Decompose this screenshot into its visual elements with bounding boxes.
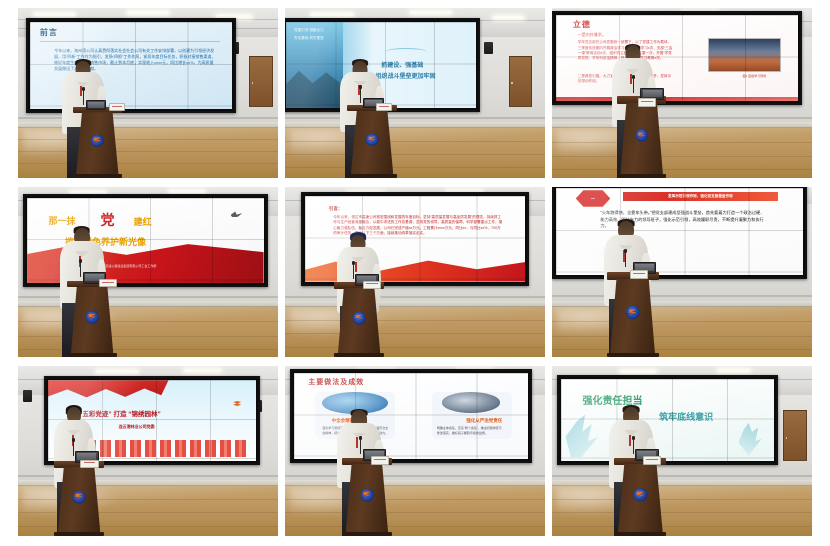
microphone [83,90,84,105]
photo-cell-7[interactable]: 以 “五彩党迹” 打造 “锦绣园林” 连云港林业公司党委 [18,366,278,536]
photo-collage-grid: 前言 今年以来，海州湾公司认真贯彻落实社会社会公司有关工作安排部署，以创建为引领… [0,0,830,546]
photo-cell-1[interactable]: 前言 今年以来，海州湾公司认真贯彻落实社会社会公司有关工作安排部署，以创建为引领… [18,8,278,178]
laptop [86,100,107,110]
speaker-nameplate [99,279,117,288]
company-roundel-logo [366,133,379,146]
microphone [80,262,81,277]
slide-surface: 主要做法及成效 中全会精神 强化学习贯彻落实党的二十大精神和二十届历次全会精神，… [294,373,528,459]
microphone [360,439,361,454]
section-badge-label: 一 [591,196,595,202]
room-door [783,410,806,461]
speaker-nameplate [643,456,661,465]
room-scene: 引言： 今年以来，领达市高速公司紧密围绕和发展的年度目标，坚持“高质量发展与高品… [285,187,545,357]
slide-subtitle: 连云港林业公司党委 [119,424,155,429]
speaker-nameplate [638,98,656,107]
led-wall-screen: 前言 今年以来，海州湾公司认真贯彻落实社会社会公司有关工作安排部署，以创建为引领… [26,18,237,113]
company-roundel-logo [91,134,104,147]
photo-cell-6[interactable]: 一 发挥示范引领作用，强化党支部堡垒作用 “火车跑得快，全靠车头带。”把党支部建… [552,187,812,357]
slide-banner-label: 发挥示范引领作用，强化党支部堡垒作用 [668,194,733,199]
floor [285,301,545,357]
slide-headline-part-1: 那一抹 [48,215,75,227]
lectern [54,461,103,536]
slide-headline-2: 组织战斗堡垒更加牢固 [376,73,436,81]
floor [552,301,812,357]
slide-surface: 立德 一是内外兼学。 学年党支部在公司党委统一部署下，以了党建工作为载体，三季度… [556,15,798,101]
speaker-nameplate [109,103,125,111]
floor [18,301,278,357]
slide-photo-caption: 图1 班组学习现场 [743,74,767,78]
ink-leaf-decor-right [732,423,766,456]
card-2-image [442,392,500,413]
room-scene: 那一抹 党 建红 擦亮绿色养护新光像 连云港市高速公路建设集团有限公司工会工作部 [18,187,278,357]
lectern [617,96,666,178]
microphone [73,441,74,456]
microphone [360,88,361,103]
company-roundel-logo [634,488,647,501]
lectern [614,458,666,536]
slide-headline-part-3: 建红 [134,216,152,228]
microphone [633,78,634,93]
room-scene: 前言 今年以来，海州湾公司认真贯彻落实社会社会公司有关工作安排部署，以创建为引领… [18,8,278,178]
led-wall-screen: 主要做法及成效 中全会精神 强化学习贯彻落实党的二十大精神和二十届历次全会精神，… [290,369,532,463]
slide-title: 前言 [40,27,58,38]
skyline-decor [85,440,247,458]
floor [18,122,278,178]
speaker-nameplate [371,456,389,465]
ink-leaf-decor-left [565,415,612,458]
slide-banner: 发挥示范引领作用，强化党支部堡垒作用 [623,192,779,201]
slide-bullet-1: 一是内外兼学。 [578,32,606,37]
photo-cell-4[interactable]: 那一抹 党 建红 擦亮绿色养护新光像 连云港市高速公路建设集团有限公司工会工作部 [18,187,278,357]
led-wall-screen: 引言： 今年以来，领达市高速公司紧密围绕和发展的年度目标，坚持“高质量发展与高品… [301,192,530,286]
room-scene: 立德 一是内外兼学。 学年党支部在公司党委统一部署下，以了党建工作为载体，三季度… [552,8,812,178]
microphone [633,439,634,454]
lectern [347,105,396,178]
slide-corner-text-2: 夯实基础 筑牢堡垒 [294,36,324,41]
led-wall-screen: 强化责任担当 筑牢底线意识 [557,375,778,465]
slide-card-2-heading: 强化从严治党责任 [466,418,502,424]
speaker-nameplate [363,281,381,290]
slide-title: 立德 [573,19,591,30]
slide-label: 引言： [329,206,343,212]
slide-headline-part-2: 党 [100,211,114,230]
slide-surface: 一 发挥示范引领作用，强化党支部堡垒作用 “火车跑得快，全靠车头带。”把党支部建… [556,188,803,275]
butterfly-decor-icon [233,401,241,406]
slide-headline-1: 抓建设、强基础 [381,62,423,70]
slide-card-2-body: 明确主体责任，压实“两个责任”，推进问题排查与整改落实，做好班子履职尽责的监督。 [437,426,505,435]
room-scene: 以 “五彩党迹” 打造 “锦绣园林” 连云港林业公司党委 [18,366,278,536]
company-roundel-logo [361,489,374,502]
lectern [342,458,391,536]
bird-decor-icon [231,211,243,217]
floor [285,122,545,178]
microphone [353,264,354,279]
floor [552,480,812,536]
photo-cell-5[interactable]: 引言： 今年以来，领达市高速公司紧密围绕和发展的年度目标，坚持“高质量发展与高品… [285,187,545,357]
room-scene: 强化责任担当 筑牢底线意识 [552,366,812,536]
speaker-nameplate [376,103,392,111]
red-flag-decor [48,380,169,401]
slide-surface: 强化责任担当 筑牢底线意识 [561,379,774,461]
company-roundel-logo [635,129,648,142]
slide-inset-photo [708,38,780,72]
company-roundel-logo [353,311,366,324]
speaker-nameplate [630,270,648,279]
photo-cell-2[interactable]: 党建引领 凝聚合力 夯实基础 筑牢堡垒 抓建设、强基础 组织战斗堡垒更加牢固 [285,8,545,178]
room-door [509,56,532,107]
lectern [607,272,659,357]
room-door [249,56,272,107]
company-roundel-logo [73,490,86,503]
led-wall-screen: 一 发挥示范引领作用，强化党支部堡垒作用 “火车跑得快，全靠车头带。”把党支部建… [552,187,807,279]
photo-cell-3[interactable]: 立德 一是内外兼学。 学年党支部在公司党委统一部署下，以了党建工作为载体，三季度… [552,8,812,178]
lectern [73,107,122,178]
floor [285,480,545,536]
lectern [334,282,383,357]
photo-cell-9[interactable]: 强化责任担当 筑牢底线意识 [552,366,812,536]
floor [552,122,812,178]
slide-headline-2: 筑牢底线意识 [659,411,713,423]
wall-speaker-icon [484,42,493,54]
speaker-nameplate [80,460,98,469]
room-scene: 主要做法及成效 中全会精神 强化学习贯彻落实党的二十大精神和二十届历次全会精神，… [285,366,545,536]
lectern [67,281,116,358]
company-roundel-logo [86,311,99,324]
room-scene: 一 发挥示范引领作用，强化党支部堡垒作用 “火车跑得快，全靠车头带。”把党支部建… [552,187,812,357]
microphone [625,252,626,267]
slide-title: 主要做法及成效 [308,377,364,387]
section-badge: 一 [576,190,611,207]
slide-surface: 前言 今年以来，海州湾公司认真贯彻落实社会社会公司有关工作安排部署，以创建为引领… [30,22,233,109]
room-scene: 党建引领 凝聚合力 夯实基础 筑牢堡垒 抓建设、强基础 组织战斗堡垒更加牢固 [285,8,545,178]
wall-speaker-icon [23,390,32,402]
led-wall-screen: 立德 一是内外兼学。 学年党支部在公司党委统一部署下，以了党建工作为载体，三季度… [552,11,802,105]
photo-cell-8[interactable]: 主要做法及成效 中全会精神 强化学习贯彻落实党的二十大精神和二十届历次全会精神，… [285,366,545,536]
company-roundel-logo [626,306,639,319]
slide-corner-text-1: 党建引领 凝聚合力 [294,28,324,33]
